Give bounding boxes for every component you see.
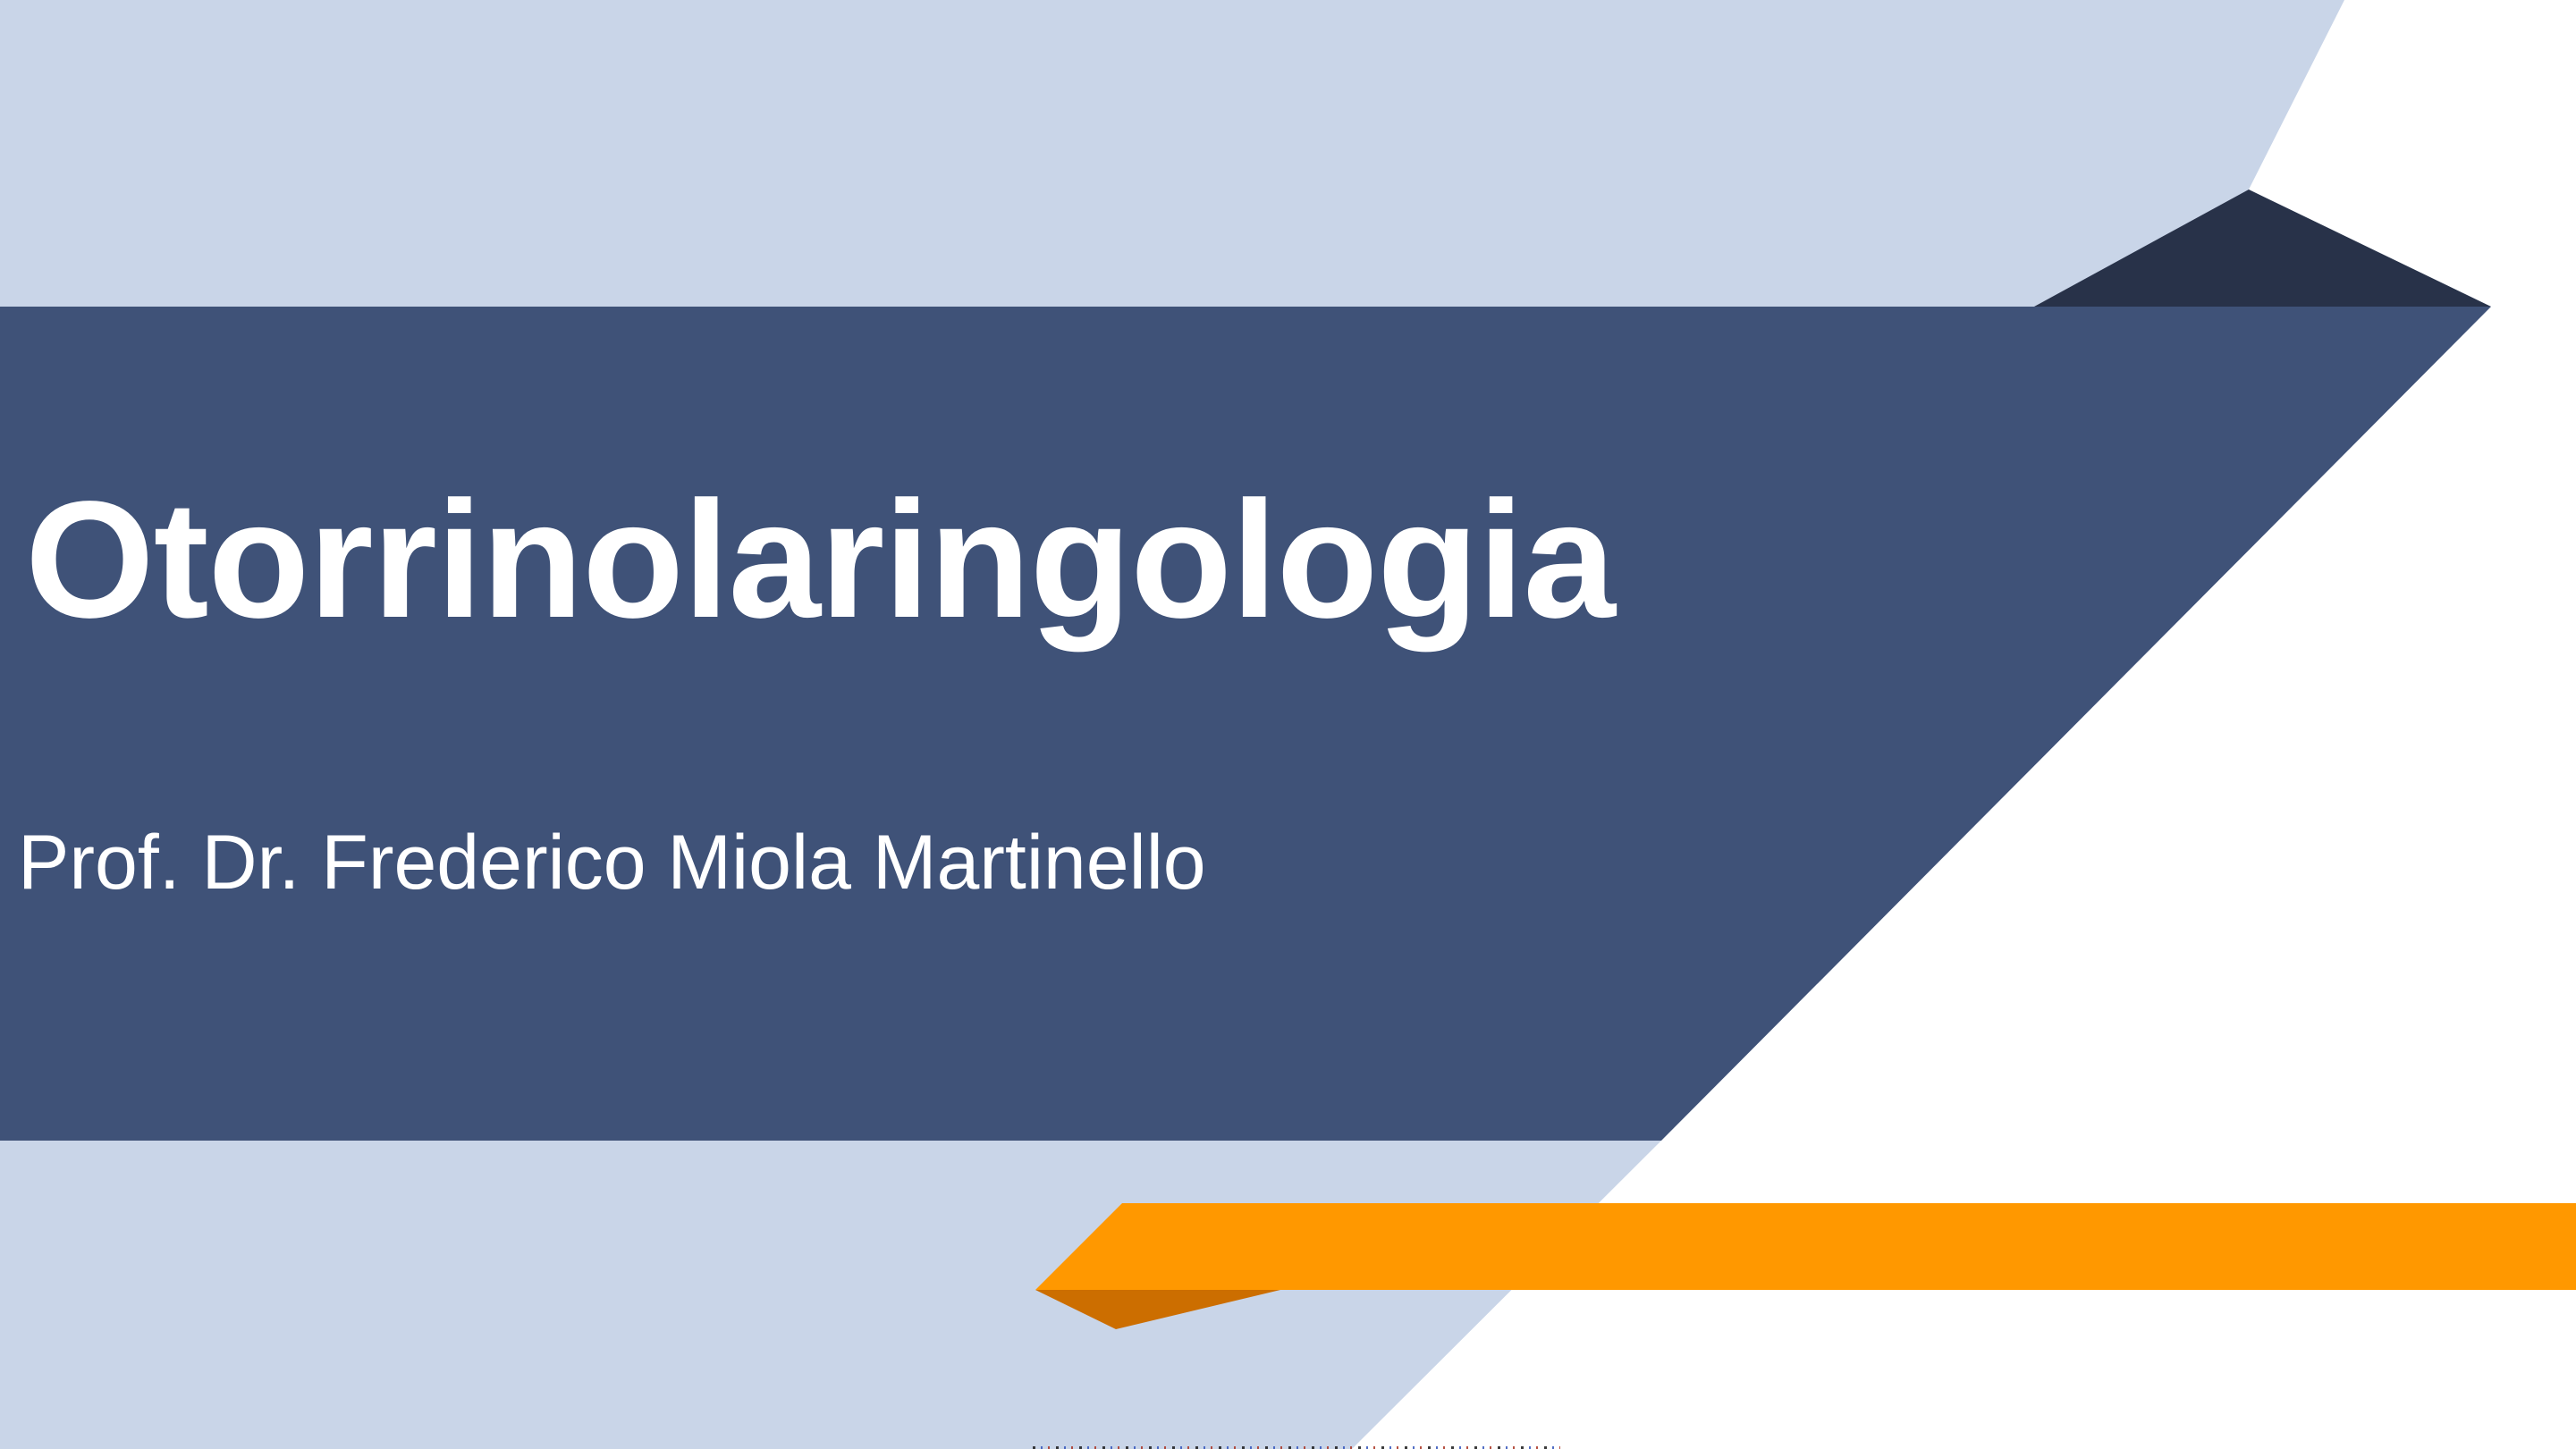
slide-background-graphics [0,0,2576,1449]
light-blue-top-band-shape [0,0,2491,307]
slide-title[interactable]: Otorrinolaringologia [25,477,1903,644]
title-slide: Otorrinolaringologia Prof. Dr. Frederico… [0,0,2576,1449]
orange-ribbon-shape [1035,1203,2576,1290]
slide-subtitle-presenter-name[interactable]: Prof. Dr. Frederico Miola Martinello [18,824,1896,901]
